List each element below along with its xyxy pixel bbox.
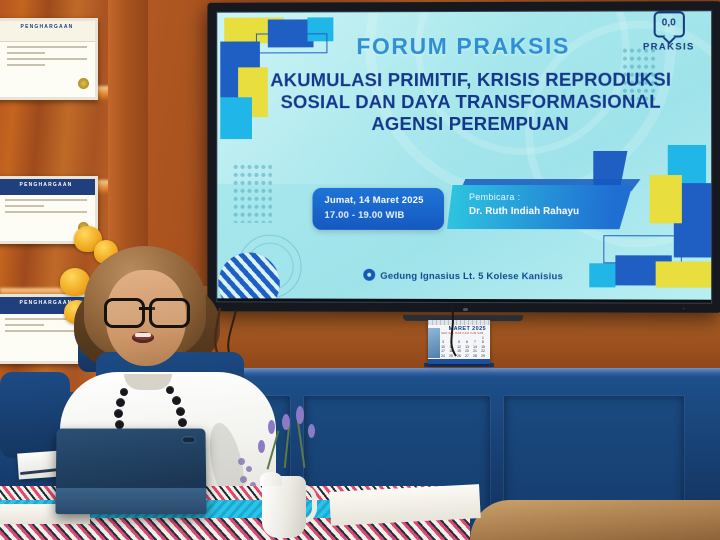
- tablet-device: [55, 429, 206, 515]
- tablet-camera-icon: [182, 436, 196, 443]
- wooden-table-surface: [470, 500, 720, 540]
- glasses-icon: [104, 298, 190, 322]
- tv-cables: [206, 300, 486, 380]
- pitcher-spout: [260, 472, 282, 486]
- wall-mounted-tv: 0,0 PRAKSIS FORUM PRAKSIS AKUMULASI PRIM…: [207, 1, 720, 313]
- lavender-flower: [282, 414, 290, 430]
- tablet-case-flap: [55, 488, 206, 514]
- tv-bezel: [207, 1, 720, 313]
- teeth: [135, 333, 151, 337]
- necklace-bead: [120, 388, 128, 396]
- ceramic-pitcher: [258, 462, 312, 538]
- photo-scene: PENGHARGAAN PENGHARGAAN PENGHARGAAN: [0, 0, 720, 540]
- tv-brand-logo: ▪: [683, 306, 685, 311]
- framed-certificate: PENGHARGAAN: [0, 18, 98, 100]
